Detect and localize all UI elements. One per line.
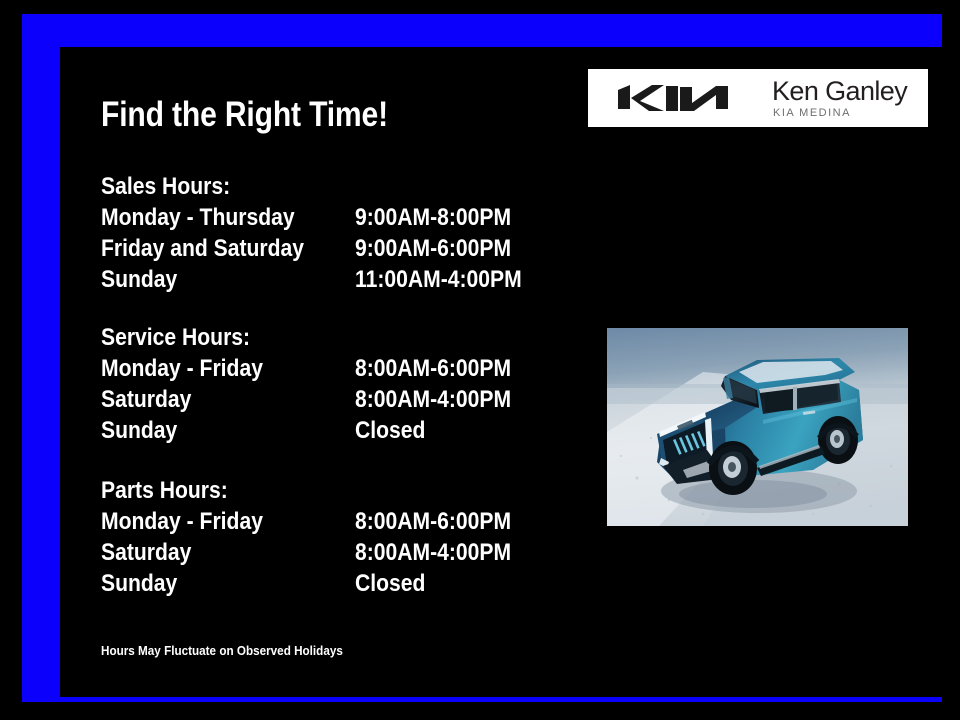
- day-label: Sunday: [101, 264, 177, 295]
- day-label: Saturday: [101, 537, 191, 568]
- dealer-location-label: KIA MEDINA: [773, 107, 851, 119]
- day-label: Friday and Saturday: [101, 233, 304, 264]
- parts-hours-block: Parts Hours: Monday - Friday 8:00AM-6:00…: [101, 475, 621, 599]
- time-value: 11:00AM-4:00PM: [355, 264, 522, 295]
- table-row: Sunday Closed: [101, 568, 621, 599]
- day-label: Monday - Friday: [101, 506, 263, 537]
- slide-root: Find the Right Time! Sales Hours: Monday…: [0, 0, 960, 720]
- parts-hours-heading: Parts Hours:: [101, 475, 559, 506]
- time-value: 9:00AM-6:00PM: [355, 233, 511, 264]
- table-row: Sunday Closed: [101, 415, 621, 446]
- sales-hours-block: Sales Hours: Monday - Thursday 9:00AM-8:…: [101, 171, 621, 295]
- table-row: Friday and Saturday 9:00AM-6:00PM: [101, 233, 621, 264]
- blue-border-frame: Find the Right Time! Sales Hours: Monday…: [22, 14, 942, 702]
- day-label: Monday - Friday: [101, 353, 263, 384]
- day-label: Sunday: [101, 568, 177, 599]
- time-value: 8:00AM-6:00PM: [355, 506, 511, 537]
- page-title: Find the Right Time!: [101, 95, 388, 135]
- day-label: Monday - Thursday: [101, 202, 295, 233]
- table-row: Sunday 11:00AM-4:00PM: [101, 264, 621, 295]
- slide-content-area: Find the Right Time! Sales Hours: Monday…: [60, 47, 948, 697]
- time-value: Closed: [355, 415, 425, 446]
- table-row: Monday - Friday 8:00AM-6:00PM: [101, 353, 621, 384]
- vehicle-photo: [607, 328, 908, 526]
- table-row: Monday - Thursday 9:00AM-8:00PM: [101, 202, 621, 233]
- table-row: Saturday 8:00AM-4:00PM: [101, 384, 621, 415]
- table-row: Monday - Friday 8:00AM-6:00PM: [101, 506, 621, 537]
- sales-hours-heading: Sales Hours:: [101, 171, 559, 202]
- kia-logo-icon: [616, 83, 740, 113]
- time-value: 8:00AM-4:00PM: [355, 537, 511, 568]
- holiday-disclaimer: Hours May Fluctuate on Observed Holidays: [101, 643, 343, 658]
- day-label: Saturday: [101, 384, 191, 415]
- time-value: 8:00AM-4:00PM: [355, 384, 511, 415]
- time-value: 8:00AM-6:00PM: [355, 353, 511, 384]
- day-label: Sunday: [101, 415, 177, 446]
- service-hours-heading: Service Hours:: [101, 322, 559, 353]
- time-value: Closed: [355, 568, 425, 599]
- dealer-logo-panel: Ken Ganley KIA MEDINA: [588, 69, 928, 127]
- table-row: Saturday 8:00AM-4:00PM: [101, 537, 621, 568]
- dealer-name: Ken Ganley: [772, 78, 907, 105]
- service-hours-block: Service Hours: Monday - Friday 8:00AM-6:…: [101, 322, 621, 446]
- time-value: 9:00AM-8:00PM: [355, 202, 511, 233]
